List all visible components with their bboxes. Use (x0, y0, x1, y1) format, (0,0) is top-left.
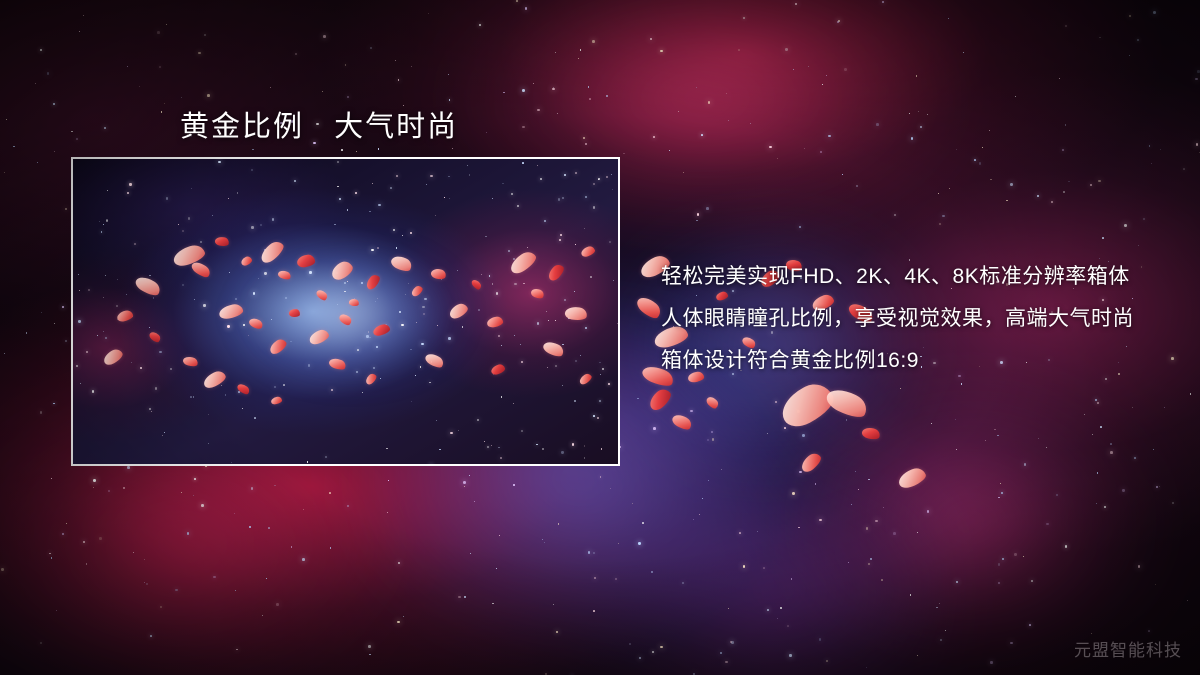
galaxy-core-glow (204, 226, 498, 403)
page-title: 黄金比例 大气时尚 (180, 103, 458, 145)
body-line-3: 箱体设计符合黄金比例16:9 (661, 340, 1181, 382)
watermark: 元盟智能科技 (1074, 636, 1182, 661)
galaxy-image-content (73, 159, 618, 464)
body-line-2: 人体眼睛瞳孔比例，享受视觉效果，高端大气时尚 (661, 298, 1181, 340)
presentation-slide: 黄金比例 大气时尚 轻松完美实现FHD、2K、4K、8K标准分辨率箱体 人体眼睛… (0, 0, 1200, 675)
body-line-1: 轻松完美实现FHD、2K、4K、8K标准分辨率箱体 (661, 256, 1181, 298)
framed-galaxy-image (71, 157, 620, 466)
body-text-block: 轻松完美实现FHD、2K、4K、8K标准分辨率箱体 人体眼睛瞳孔比例，享受视觉效… (661, 256, 1181, 382)
